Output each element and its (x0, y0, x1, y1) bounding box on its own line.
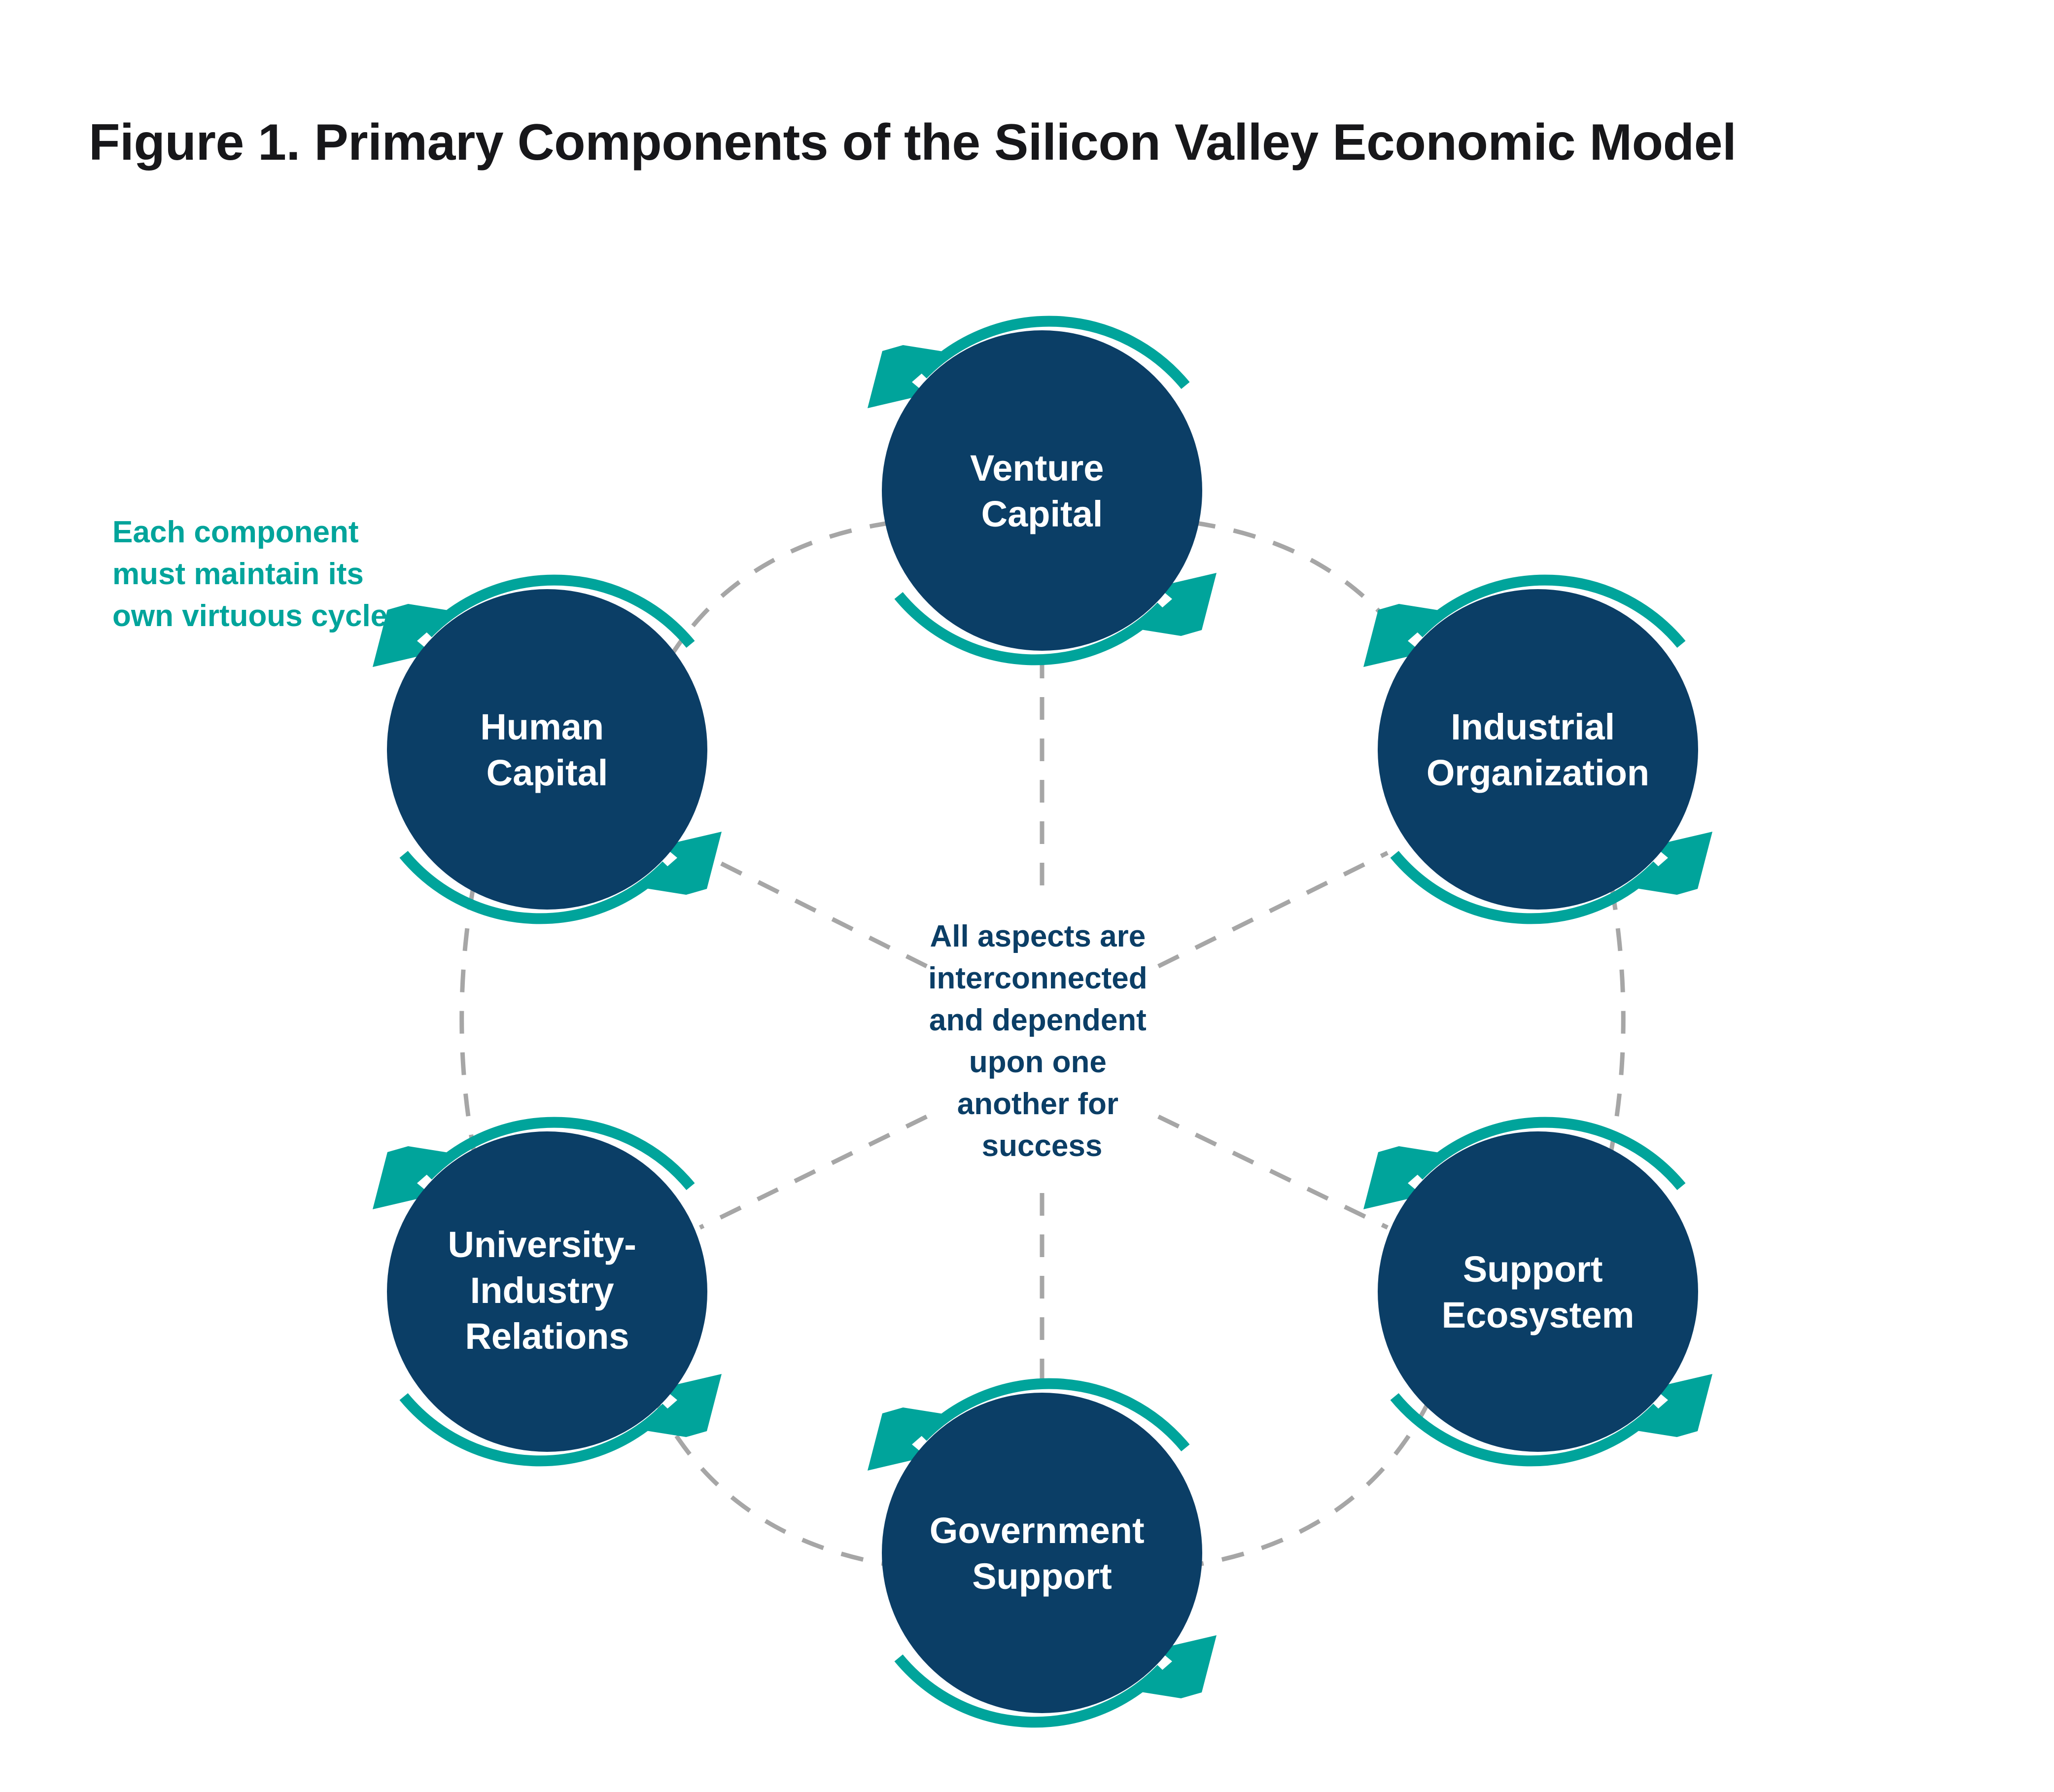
connector-support-ecosystem-to-government-support (1193, 1400, 1429, 1565)
node-circle-industrial-organization[interactable] (1378, 589, 1698, 910)
node-venture-capital[interactable]: Venture Capital (868, 321, 1217, 660)
node-circle-government-support[interactable] (882, 1393, 1202, 1713)
node-circle-venture-capital[interactable] (882, 330, 1202, 651)
figure-container: Figure 1. Primary Components of the Sili… (0, 0, 2054, 1792)
connector-spoke-support-ecosystem-center (1158, 1117, 1388, 1228)
connector-spoke-human-capital-center (700, 853, 927, 966)
connector-spoke-industrial-organization-center (1158, 853, 1388, 966)
node-label-university-industry-relations: University- Industry Relations (448, 1224, 646, 1357)
node-human-capital[interactable]: Human Capital (373, 580, 722, 919)
node-circle-support-ecosystem[interactable] (1378, 1131, 1698, 1452)
connector-venture-capital-to-human-capital (656, 523, 892, 683)
diagram-canvas: Venture Capital Industrial Organization (0, 0, 2054, 1792)
node-industrial-organization[interactable]: Industrial Organization (1363, 580, 1712, 919)
connector-spoke-university-industry-center (700, 1117, 927, 1228)
node-circle-human-capital[interactable] (387, 589, 707, 910)
virtuous-cycle-annotation: Each component must maintain its own vir… (112, 515, 387, 633)
center-annotation: All aspects are interconnected and depen… (928, 919, 1156, 1163)
node-university-industry-relations[interactable]: University- Industry Relations (373, 1123, 722, 1461)
node-government-support[interactable]: Government Support (868, 1384, 1217, 1722)
node-support-ecosystem[interactable]: Support Ecosystem (1363, 1123, 1712, 1461)
